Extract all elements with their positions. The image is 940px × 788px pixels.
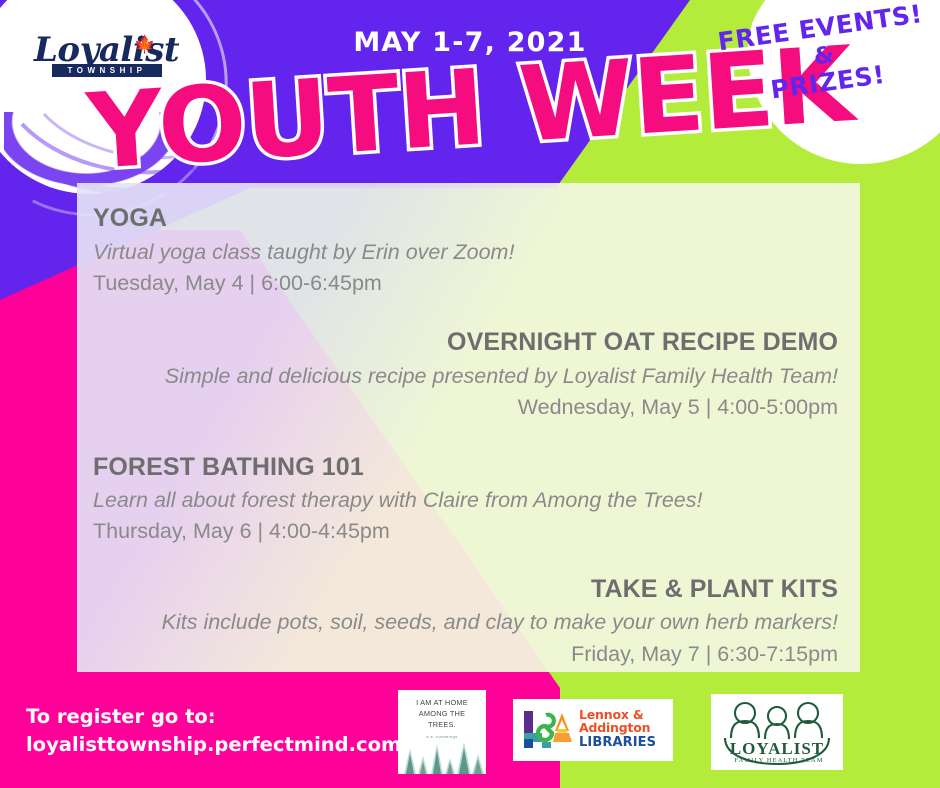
- trees-quote-line-3: TREES.: [398, 719, 486, 730]
- event-item: OVERNIGHT OAT RECIPE DEMO Simple and del…: [93, 325, 838, 423]
- event-datetime: Thursday, May 6 | 4:00-4:45pm: [93, 516, 838, 547]
- la-monogram-icon: [522, 709, 574, 751]
- la-line-1: Lennox &: [579, 708, 656, 721]
- event-title: TAKE & PLANT KITS: [93, 572, 838, 608]
- loyalist-family-health-team-logo: LOYALIST FAMILY HEALTH TEAM: [711, 694, 843, 770]
- event-datetime: Friday, May 7 | 6:30-7:15pm: [93, 639, 838, 670]
- trees-quote: I AM AT HOME AMONG THE TREES.: [398, 697, 486, 730]
- event-datetime: Wednesday, May 5 | 4:00-5:00pm: [93, 392, 838, 423]
- event-title: OVERNIGHT OAT RECIPE DEMO: [93, 325, 838, 361]
- svg-text:FAMILY HEALTH TEAM: FAMILY HEALTH TEAM: [734, 757, 823, 764]
- among-the-trees-logo: I AM AT HOME AMONG THE TREES. e.e. cummi…: [398, 690, 486, 774]
- la-wordmark: Lennox & Addington LIBRARIES: [579, 708, 656, 750]
- register-label: To register go to:: [26, 703, 401, 731]
- event-description: Virtual yoga class taught by Erin over Z…: [93, 237, 838, 268]
- event-description: Kits include pots, soil, seeds, and clay…: [93, 607, 838, 638]
- family-figures-icon: LOYALIST FAMILY HEALTH TEAM: [711, 694, 843, 770]
- events-panel: YOGA Virtual yoga class taught by Erin o…: [77, 183, 860, 672]
- spacer: [93, 428, 838, 450]
- trees-attribution: e.e. cummings: [398, 734, 486, 739]
- event-item: TAKE & PLANT KITS Kits include pots, soi…: [93, 572, 838, 670]
- trees-quote-line-1: I AM AT HOME: [398, 697, 486, 708]
- event-title: YOGA: [93, 201, 838, 237]
- spacer: [93, 552, 838, 572]
- lennox-addington-libraries-logo: Lennox & Addington LIBRARIES: [513, 699, 673, 761]
- svg-text:LOYALIST: LOYALIST: [730, 739, 824, 758]
- event-description: Learn all about forest therapy with Clai…: [93, 485, 838, 516]
- youth-week-poster: Loyalist 🍁 TOWNSHIP MAY 1-7, 2021 YOUTH …: [0, 0, 940, 788]
- register-url: loyalisttownship.perfectmind.com: [26, 731, 401, 759]
- la-line-3: LIBRARIES: [579, 736, 656, 751]
- la-line-2: Addington: [579, 721, 656, 734]
- event-item: YOGA Virtual yoga class taught by Erin o…: [93, 201, 838, 299]
- spacer: [93, 303, 838, 325]
- registration-info: To register go to: loyalisttownship.perf…: [26, 703, 401, 758]
- event-item: FOREST BATHING 101 Learn all about fores…: [93, 450, 838, 548]
- watercolor-trees-icon: [398, 738, 486, 774]
- event-datetime: Tuesday, May 4 | 6:00-6:45pm: [93, 268, 838, 299]
- event-description: Simple and delicious recipe presented by…: [93, 361, 838, 392]
- event-title: FOREST BATHING 101: [93, 450, 838, 486]
- trees-quote-line-2: AMONG THE: [398, 708, 486, 719]
